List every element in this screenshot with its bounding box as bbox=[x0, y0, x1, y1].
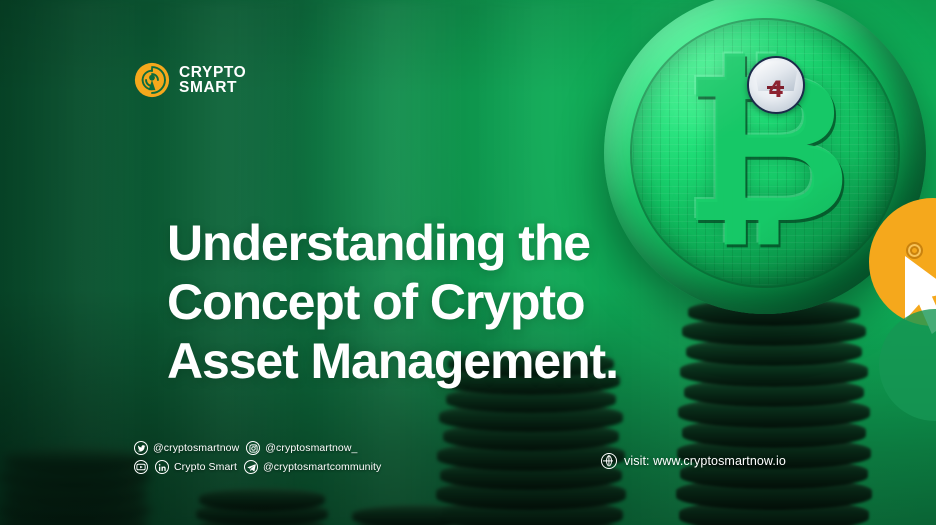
labyrinth-logo-icon bbox=[134, 62, 170, 98]
social-item-youtube[interactable] bbox=[134, 460, 148, 474]
website-url-text: visit: www.cryptosmartnow.io bbox=[624, 454, 786, 468]
watermark-mark: 4 bbox=[768, 80, 783, 102]
linkedin-icon bbox=[155, 460, 169, 474]
social-item-instagram[interactable]: @cryptosmartnow_ bbox=[246, 441, 357, 455]
social-item-twitter[interactable]: @cryptosmartnow bbox=[134, 441, 239, 455]
twitter-handle: @cryptosmartnow bbox=[153, 442, 239, 454]
instagram-icon bbox=[246, 441, 260, 455]
headline-line-1: Understanding the bbox=[167, 214, 727, 273]
social-handles-block: @cryptosmartnow @cryptosmartnow_ bbox=[134, 441, 381, 474]
youtube-icon bbox=[134, 460, 148, 474]
globe-icon bbox=[601, 453, 617, 469]
telegram-icon bbox=[244, 460, 258, 474]
website-block[interactable]: visit: www.cryptosmartnow.io bbox=[601, 453, 786, 469]
social-row-1: @cryptosmartnow @cryptosmartnow_ bbox=[134, 441, 381, 455]
twitter-icon bbox=[134, 441, 148, 455]
linkedin-handle: Crypto Smart bbox=[174, 461, 237, 473]
social-row-2: Crypto Smart @cryptosmartcommunity bbox=[134, 460, 381, 474]
headline-line-2: Concept of Crypto bbox=[167, 273, 727, 332]
social-item-telegram[interactable]: @cryptosmartcommunity bbox=[244, 460, 381, 474]
social-item-linkedin[interactable]: Crypto Smart bbox=[155, 460, 237, 474]
headline: Understanding the Concept of Crypto Asse… bbox=[167, 214, 727, 391]
brand-name-line1: CRYPTO bbox=[179, 65, 246, 80]
telegram-handle: @cryptosmartcommunity bbox=[263, 461, 381, 473]
brand-logo-lockup[interactable]: CRYPTO SMART bbox=[134, 62, 246, 98]
instagram-handle: @cryptosmartnow_ bbox=[265, 442, 357, 454]
crypto-smart-promo-banner: ₿ 4 bbox=[0, 0, 936, 525]
mini-logo-icon bbox=[906, 242, 923, 259]
headline-line-3: Asset Management. bbox=[167, 332, 727, 391]
coin-watermark-badge: 4 bbox=[747, 56, 805, 114]
brand-name-line2: SMART bbox=[179, 80, 246, 95]
brand-wordmark: CRYPTO SMART bbox=[179, 65, 246, 95]
